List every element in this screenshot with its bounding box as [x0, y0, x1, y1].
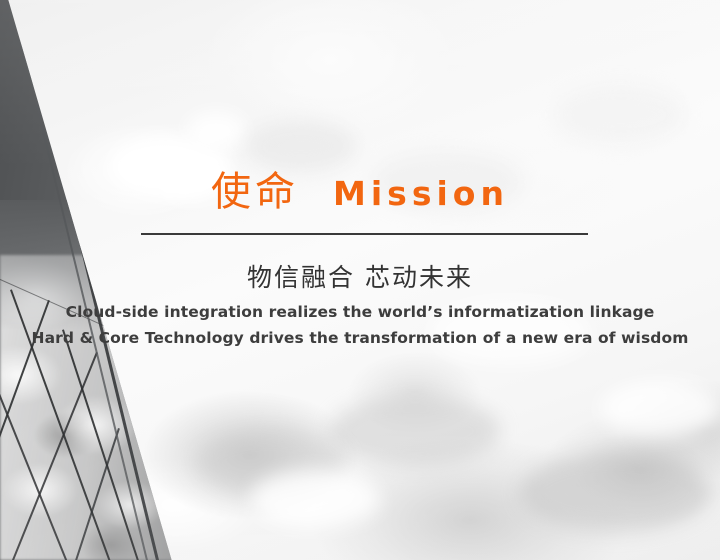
- heading-english: Mission: [333, 177, 509, 210]
- tagline-line-1: Cloud-side integration realizes the worl…: [0, 303, 720, 321]
- heading-chinese: 使命: [211, 172, 299, 212]
- mission-banner: 使命 Mission 物信融合 芯动未来 Cloud-side integrat…: [0, 0, 720, 560]
- banner-content: 使命 Mission 物信融合 芯动未来 Cloud-side integrat…: [0, 0, 720, 560]
- heading-group: 使命 Mission: [0, 172, 720, 212]
- heading-divider: [141, 233, 588, 235]
- subtitle-chinese: 物信融合 芯动未来: [0, 258, 720, 294]
- tagline-line-2: Hard & Core Technology drives the transf…: [0, 329, 720, 347]
